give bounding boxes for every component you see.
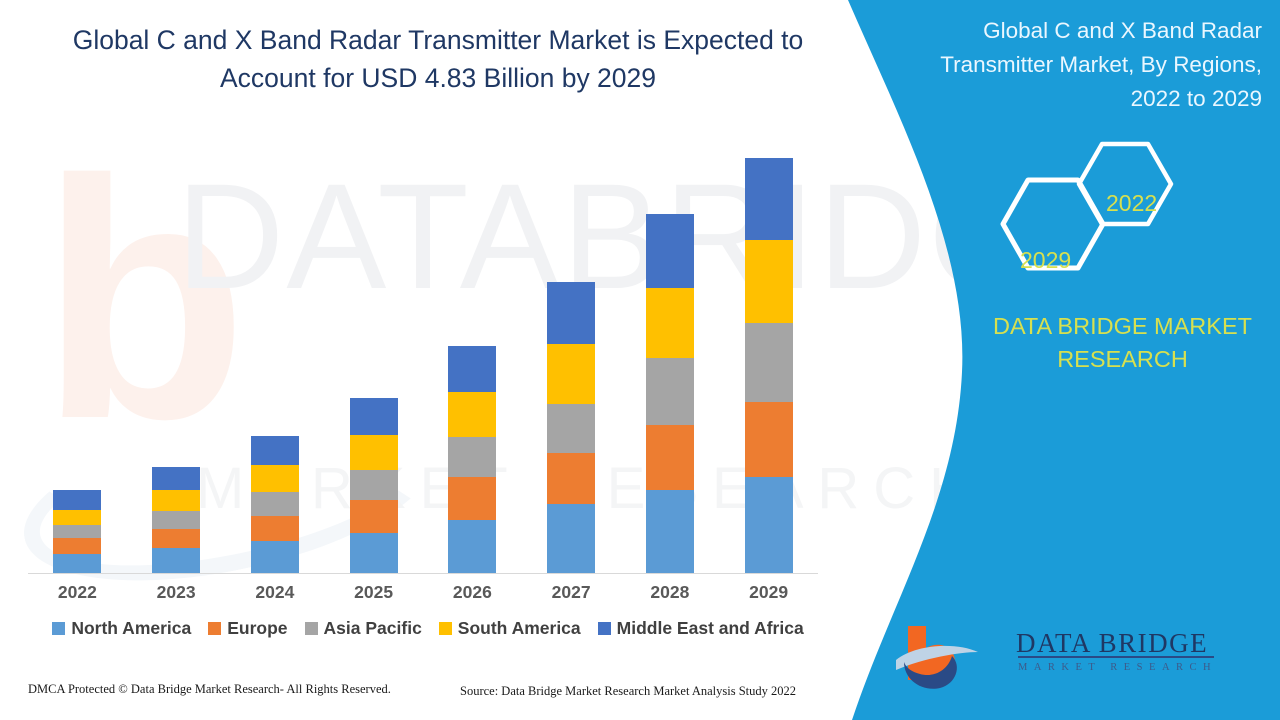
bar-segment [448, 520, 496, 573]
chart-x-axis-line [28, 573, 818, 574]
bar-segment [745, 402, 793, 478]
bar-segment [53, 554, 101, 573]
data-bridge-logo-mark [890, 622, 1010, 694]
legend-swatch-icon [305, 622, 318, 635]
bar-segment [53, 490, 101, 510]
chart-x-axis-labels: 20222023202420252026202720282029 [28, 578, 818, 610]
bar-segment [745, 477, 793, 573]
bar-segment [350, 470, 398, 501]
bar-segment [53, 525, 101, 537]
chart-plot-area [28, 130, 818, 573]
bar-stack [152, 467, 200, 573]
bar-column-2026 [423, 130, 522, 573]
bar-segment [448, 346, 496, 392]
x-axis-label-2025: 2025 [324, 582, 423, 603]
bar-column-2027 [522, 130, 621, 573]
bar-column-2022 [28, 130, 127, 573]
panel-brand-name: DATA BRIDGE MARKET RESEARCH [965, 310, 1280, 377]
legend-label: Asia Pacific [324, 618, 422, 639]
legend-swatch-icon [598, 622, 611, 635]
logo-wordmark: DATA BRIDGE [1016, 628, 1208, 659]
bar-segment [251, 541, 299, 573]
x-axis-label-2023: 2023 [127, 582, 226, 603]
bar-segment [152, 490, 200, 511]
hexagon-2029-label: 2029 [1020, 247, 1071, 274]
bar-stack [350, 398, 398, 573]
bar-segment [53, 538, 101, 554]
x-axis-label-2027: 2027 [522, 582, 621, 603]
legend-label: North America [71, 618, 191, 639]
bar-stack [547, 282, 595, 573]
x-axis-label-2029: 2029 [719, 582, 818, 603]
bar-column-2028 [621, 130, 720, 573]
legend-item[interactable]: North America [52, 618, 191, 639]
bar-segment [745, 323, 793, 402]
bar-segment [646, 288, 694, 358]
chart-legend: North AmericaEuropeAsia PacificSouth Ame… [28, 618, 828, 639]
legend-item[interactable]: Europe [208, 618, 287, 639]
bar-segment [745, 158, 793, 240]
bar-segment [350, 533, 398, 573]
legend-swatch-icon [439, 622, 452, 635]
legend-swatch-icon [52, 622, 65, 635]
x-axis-label-2026: 2026 [423, 582, 522, 603]
bar-segment [448, 437, 496, 477]
bar-segment [646, 214, 694, 289]
logo-tagline: MARKET RESEARCH [1018, 662, 1217, 673]
x-axis-label-2028: 2028 [621, 582, 720, 603]
hexagon-year-badges: 2022 2029 [980, 132, 1280, 292]
bar-stack [745, 158, 793, 573]
footer-source-note: Source: Data Bridge Market Research Mark… [460, 684, 796, 699]
x-axis-label-2024: 2024 [226, 582, 325, 603]
bar-segment [350, 435, 398, 469]
bar-column-2023 [127, 130, 226, 573]
legend-item[interactable]: South America [439, 618, 581, 639]
bar-segment [547, 282, 595, 344]
stacked-bar-chart: 20222023202420252026202720282029 [0, 130, 850, 620]
bar-column-2025 [324, 130, 423, 573]
bar-segment [251, 465, 299, 492]
bar-segment [152, 511, 200, 529]
bar-segment [646, 425, 694, 490]
bar-stack [251, 436, 299, 573]
panel-title: Global C and X Band Radar Transmitter Ma… [932, 14, 1262, 115]
bar-segment [547, 404, 595, 453]
bar-segment [547, 453, 595, 505]
bar-segment [547, 504, 595, 573]
legend-swatch-icon [208, 622, 221, 635]
bar-segment [646, 358, 694, 425]
hexagon-2022-label: 2022 [1106, 190, 1157, 217]
bar-segment [350, 500, 398, 533]
bar-segment [350, 398, 398, 435]
bar-segment [646, 490, 694, 573]
bar-segment [152, 548, 200, 573]
bar-column-2024 [226, 130, 325, 573]
bar-segment [448, 477, 496, 520]
legend-item[interactable]: Asia Pacific [305, 618, 422, 639]
bar-segment [251, 492, 299, 516]
bar-segment [53, 510, 101, 525]
bar-stack [53, 490, 101, 573]
logo-divider [1018, 656, 1214, 658]
bar-segment [152, 529, 200, 548]
legend-label: Middle East and Africa [617, 618, 804, 639]
bar-segment [251, 436, 299, 465]
legend-item[interactable]: Middle East and Africa [598, 618, 804, 639]
bar-column-2029 [719, 130, 818, 573]
page-title: Global C and X Band Radar Transmitter Ma… [28, 22, 848, 97]
footer-dmca-notice: DMCA Protected © Data Bridge Market Rese… [28, 682, 391, 697]
legend-label: Europe [227, 618, 287, 639]
bar-segment [547, 344, 595, 403]
bar-stack [448, 346, 496, 573]
bar-segment [251, 516, 299, 542]
bar-stack [646, 214, 694, 574]
x-axis-label-2022: 2022 [28, 582, 127, 603]
bar-segment [152, 467, 200, 490]
data-bridge-logo: DATA BRIDGE MARKET RESEARCH [890, 620, 1230, 698]
bar-segment [448, 392, 496, 437]
legend-label: South America [458, 618, 581, 639]
bar-segment [745, 240, 793, 322]
